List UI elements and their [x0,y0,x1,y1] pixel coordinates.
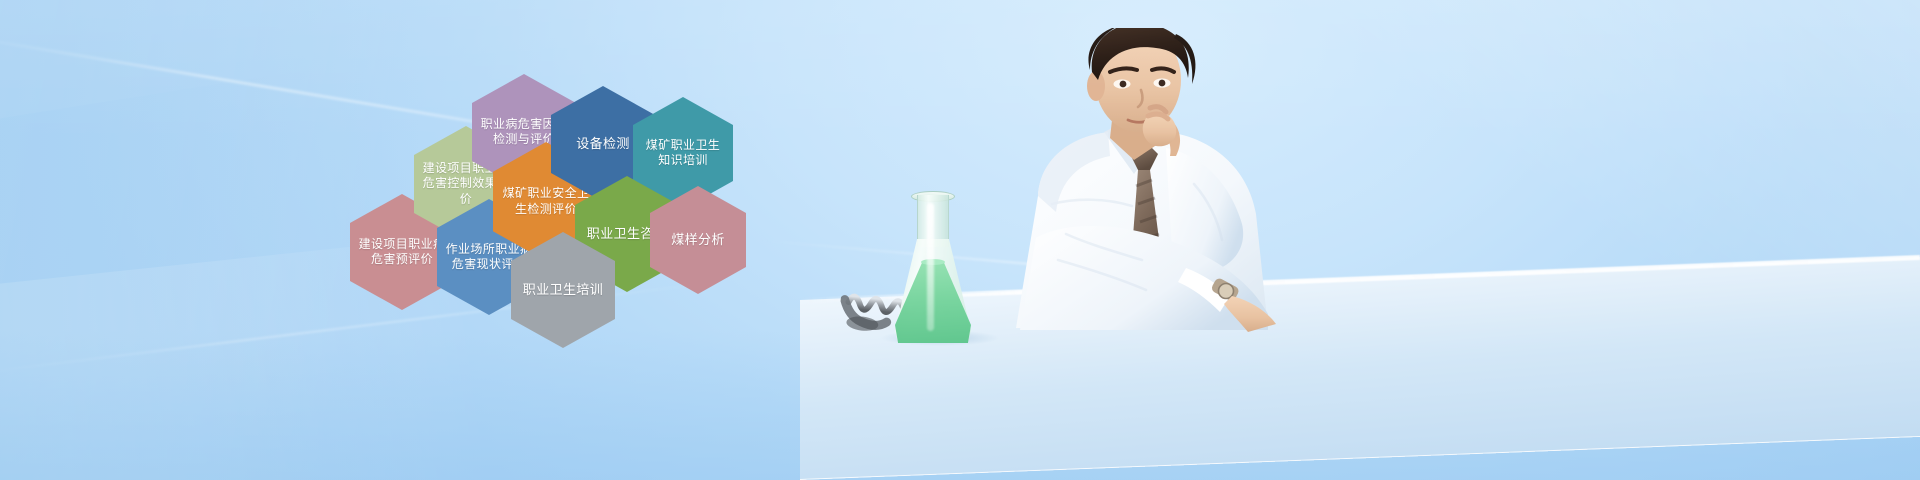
flask-highlight [927,203,934,331]
hex-tile-label: 职业卫生培训 [519,282,607,299]
hex-tile-label: 建设项目职业病危害预评价 [358,237,446,268]
hex-tile-label: 煤样分析 [658,232,738,249]
banner-root: 建设项目职业病危害预评价建设项目职业病危害控制效果评价职业病危害因素检测与评价作… [0,0,1920,480]
hex-tile-label: 煤矿职业卫生知识培训 [641,138,725,169]
researcher-portrait [980,28,1310,348]
hex-cluster: 建设项目职业病危害预评价建设项目职业病危害控制效果评价职业病危害因素检测与评价作… [0,0,920,480]
